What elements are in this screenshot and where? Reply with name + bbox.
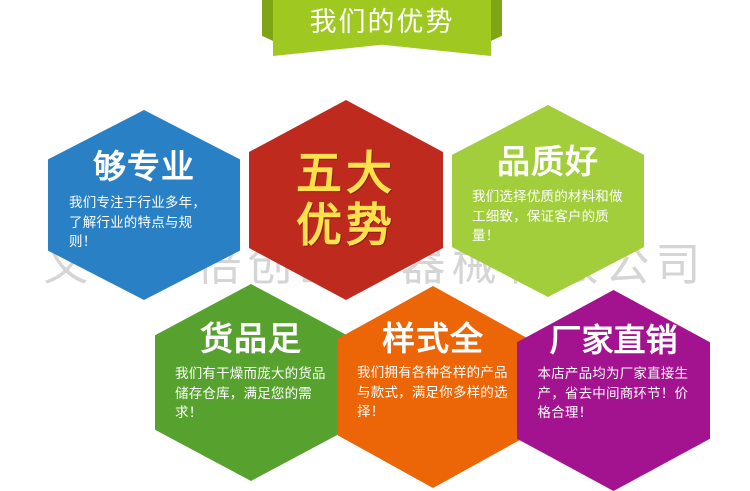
hexagon-body-stock: 我们有干燥而庞大的货品储存仓库，满足您的需求！ <box>175 364 327 423</box>
hexagon-title-center: 五大 优势 <box>296 148 396 251</box>
hexagon-title-factory: 厂家直销 <box>549 324 677 356</box>
hexagon-card-stock: 货品足 我们有干燥而庞大的货品储存仓库，满足您的需求！ <box>155 284 347 481</box>
hexagon-title-center-line2: 优势 <box>296 200 396 252</box>
hexagon-card-styles: 样式全 我们拥有各种各样的产品与款式，满足你多样的选择！ <box>338 286 528 488</box>
hexagon-card-quality: 品质好 我们选择优质的材料和做工细致，保证客户的质量！ <box>452 105 644 297</box>
advantages-infographic: 我们的优势 义乌市倍创医疗器械有限公司 够专业 我们专注于行业多年，了解行业的特… <box>0 0 750 491</box>
hexagon-title-quality: 品质好 <box>497 145 599 178</box>
hexagon-title-professional: 够专业 <box>93 150 195 183</box>
hexagon-title-styles: 样式全 <box>382 322 484 355</box>
hexagon-body-professional: 我们专注于行业多年，了解行业的特点与规则！ <box>69 193 219 252</box>
ribbon-body: 我们的优势 <box>273 0 491 56</box>
hexagon-card-factory: 厂家直销 本店产品均为厂家直接生产，省去中间商环节！价格合理！ <box>517 290 710 491</box>
hexagon-body-styles: 我们拥有各种各样的产品与款式，满足你多样的选择！ <box>357 363 509 422</box>
hexagon-body-factory: 本店产品均为厂家直接生产，省去中间商环节！价格合理！ <box>538 364 690 423</box>
page-title: 我们的优势 <box>310 9 455 36</box>
hexagon-card-professional: 够专业 我们专注于行业多年，了解行业的特点与规则！ <box>48 110 240 300</box>
hexagon-body-quality: 我们选择优质的材料和做工细致，保证客户的质量！ <box>472 187 624 246</box>
hexagon-title-stock: 货品足 <box>200 322 302 355</box>
hexagon-title-center-line1: 五大 <box>296 148 396 200</box>
header-ribbon: 我们的优势 <box>262 0 502 56</box>
hexagon-card-center: 五大 优势 <box>249 100 443 300</box>
